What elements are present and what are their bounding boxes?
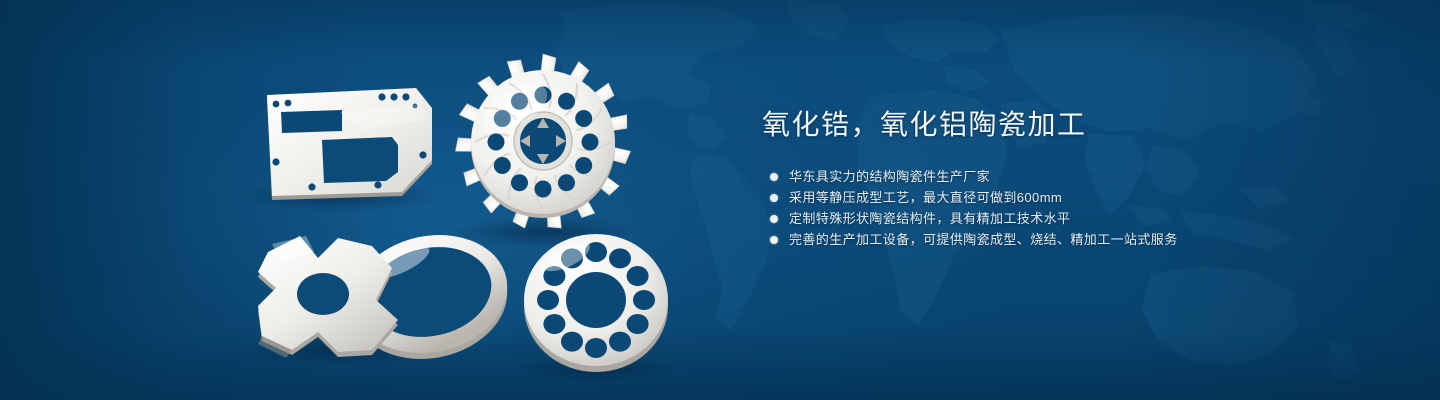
feature-list: 华东具实力的结构陶瓷件生产厂家 采用等静压成型工艺，最大直径可做到600mm 定…	[770, 166, 1382, 250]
ceramic-cross-part	[258, 236, 398, 358]
feature-text: 华东具实力的结构陶瓷件生产厂家	[789, 166, 990, 187]
banner-copy: 氧化锆，氧化铝陶瓷加工 华东具实力的结构陶瓷件生产厂家 采用等静压成型工艺，最大…	[762, 104, 1382, 250]
list-item: 采用等静压成型工艺，最大直径可做到600mm	[770, 187, 1382, 208]
list-item: 华东具实力的结构陶瓷件生产厂家	[770, 166, 1382, 187]
list-item: 完善的生产加工设备，可提供陶瓷成型、烧结、精加工一站式服务	[770, 229, 1382, 250]
page-title: 氧化锆，氧化铝陶瓷加工	[762, 104, 1382, 146]
promo-banner: 氧化锆，氧化铝陶瓷加工 华东具实力的结构陶瓷件生产厂家 采用等静压成型工艺，最大…	[0, 0, 1440, 400]
list-item: 定制特殊形状陶瓷结构件，具有精加工技术水平	[770, 208, 1382, 229]
bullet-dot-icon	[770, 173, 778, 181]
feature-text: 完善的生产加工设备，可提供陶瓷成型、烧结、精加工一站式服务	[789, 229, 1178, 250]
bullet-dot-icon	[770, 215, 778, 223]
ceramic-impeller-part	[454, 54, 631, 231]
ceramic-plate-part	[267, 88, 432, 200]
feature-text: 定制特殊形状陶瓷结构件，具有精加工技术水平	[789, 208, 1070, 229]
bullet-dot-icon	[770, 236, 778, 244]
ceramic-products-image	[0, 0, 760, 400]
bullet-dot-icon	[770, 194, 778, 202]
ceramic-perforated-disc-part	[524, 234, 668, 372]
feature-text: 采用等静压成型工艺，最大直径可做到600mm	[789, 187, 1062, 208]
